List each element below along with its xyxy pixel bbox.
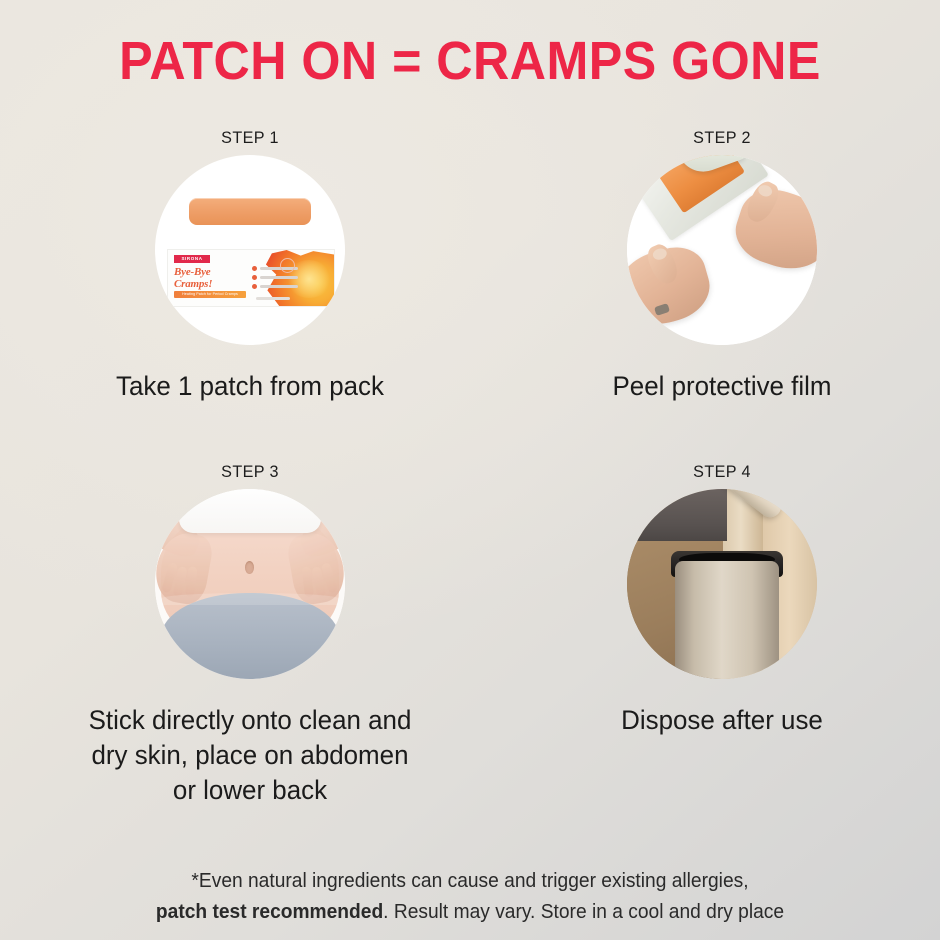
step-label-2: STEP 2 bbox=[523, 128, 922, 148]
bullet-line bbox=[260, 276, 298, 279]
underwear bbox=[161, 593, 339, 679]
disclaimer-line-1: *Even natural ingredients can cause and … bbox=[19, 866, 921, 897]
disposal-scene bbox=[627, 489, 817, 679]
pack-bullet bbox=[252, 275, 298, 280]
crop-top bbox=[179, 489, 321, 533]
disclaimer-bold: patch test recommended bbox=[156, 901, 383, 923]
pack-headline-line1: Bye-Bye bbox=[174, 267, 210, 278]
caption-line: dry skin, place on abdomen bbox=[48, 738, 451, 773]
pack-footnote-line bbox=[256, 297, 290, 300]
step-caption-4: Dispose after use bbox=[520, 703, 923, 738]
peel-scene bbox=[627, 155, 817, 345]
caption-line: Dispose after use bbox=[520, 703, 923, 738]
step-1-circle: SIRONA Bye-Bye Cramps! Heating Patch for… bbox=[155, 155, 345, 345]
step-caption-3: Stick directly onto clean and dry skin, … bbox=[48, 703, 451, 808]
caption-line: Take 1 patch from pack bbox=[48, 369, 451, 404]
step-block-3: STEP 3 bbox=[40, 462, 460, 808]
step-block-2: STEP 2 bbox=[512, 128, 932, 404]
step-label-3: STEP 3 bbox=[51, 462, 450, 482]
step-caption-2: Peel protective film bbox=[520, 369, 923, 404]
step-image-2 bbox=[627, 155, 817, 345]
pack-headline-line2: Cramps! bbox=[174, 279, 212, 290]
heat-patch-icon bbox=[189, 198, 311, 225]
step-image-3 bbox=[155, 489, 345, 679]
bullet-dot-icon bbox=[252, 284, 257, 289]
pack-strip-text: Heating Patch for Period Cramps bbox=[175, 291, 245, 298]
infographic-root: PATCH ON = CRAMPS GONE STEP 1 SIRONA Bye… bbox=[0, 0, 940, 940]
step-4-circle bbox=[627, 489, 817, 679]
product-pack: SIRONA Bye-Bye Cramps! Heating Patch for… bbox=[167, 249, 335, 307]
step-2-circle bbox=[627, 155, 817, 345]
page-title: PATCH ON = CRAMPS GONE bbox=[33, 30, 907, 92]
step-image-1: SIRONA Bye-Bye Cramps! Heating Patch for… bbox=[155, 155, 345, 345]
step-caption-1: Take 1 patch from pack bbox=[48, 369, 451, 404]
waistband bbox=[161, 593, 339, 605]
disclaimer-rest: . Result may vary. Store in a cool and d… bbox=[383, 901, 784, 923]
abdomen-scene bbox=[155, 489, 345, 679]
footer-disclaimer: *Even natural ingredients can cause and … bbox=[19, 866, 921, 928]
navel bbox=[245, 561, 254, 574]
caption-line: Peel protective film bbox=[520, 369, 923, 404]
caption-line: Stick directly onto clean and bbox=[48, 703, 451, 738]
step-block-4: STEP 4 Dispose after use bbox=[512, 462, 932, 738]
step-label-4: STEP 4 bbox=[523, 462, 922, 482]
bullet-dot-icon bbox=[252, 266, 257, 271]
disclaimer-line-2: patch test recommended. Result may vary.… bbox=[19, 897, 921, 928]
step-image-4 bbox=[627, 489, 817, 679]
step-block-1: STEP 1 SIRONA Bye-Bye Cramps! Heating Pa… bbox=[40, 128, 460, 404]
step-label-1: STEP 1 bbox=[51, 128, 450, 148]
brand-name: SIRONA bbox=[175, 255, 209, 263]
step-3-circle bbox=[155, 489, 345, 679]
counter-top bbox=[627, 489, 727, 541]
bullet-line bbox=[260, 285, 298, 288]
pack-bullet bbox=[252, 284, 298, 289]
pack-seal-icon bbox=[280, 258, 295, 273]
caption-line: or lower back bbox=[48, 773, 451, 808]
bullet-dot-icon bbox=[252, 275, 257, 280]
trash-bin bbox=[675, 561, 779, 679]
